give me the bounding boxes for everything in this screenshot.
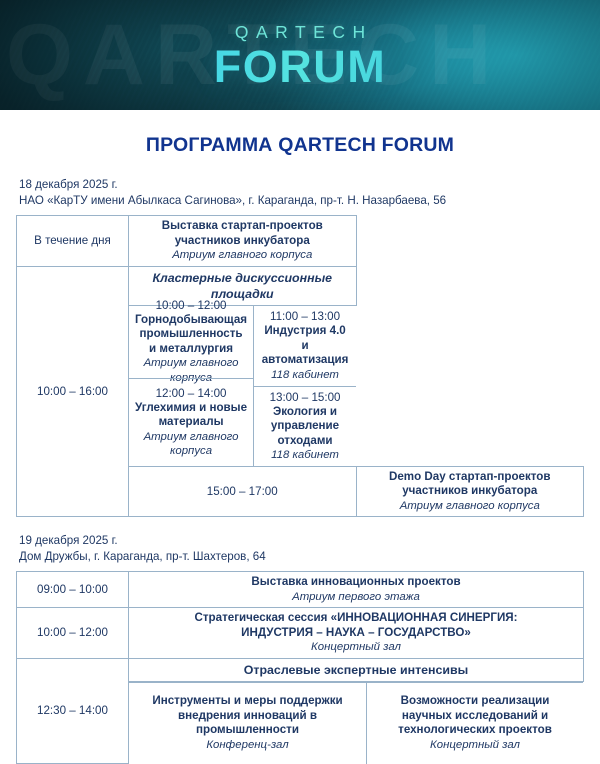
row-title-line-2: ИНДУСТРИЯ – НАУКА – ГОСУДАРСТВО» bbox=[134, 626, 578, 641]
program-sheet: ПРОГРАММА QARTECH FORUM 18 декабря 2025 … bbox=[0, 134, 600, 764]
intensive-title-line-3: технологических проектов bbox=[373, 723, 577, 738]
header-banner: QARTECH QARTECH FORUM bbox=[0, 0, 600, 110]
day-1-date: 18 декабря 2025 г. bbox=[16, 177, 584, 193]
cluster-grid-cell: 10:00 – 12:00 Горнодобывающая промышленн… bbox=[129, 305, 357, 466]
row-content: Стратегическая сессия «ИННОВАЦИОННАЯ СИН… bbox=[129, 608, 584, 659]
cluster-time: 10:00 – 12:00 bbox=[135, 298, 247, 313]
cluster-title-line-2: отходами bbox=[260, 434, 350, 449]
intensive-column-left[interactable]: Инструменты и меры поддержки внедрения и… bbox=[129, 682, 367, 764]
intensive-title-line-2: внедрения инноваций в bbox=[135, 709, 360, 724]
row-time: 15:00 – 17:00 bbox=[129, 466, 357, 517]
logo-wordmark-forum: FORUM bbox=[0, 43, 600, 90]
row-place: Концертный зал bbox=[134, 640, 578, 655]
day-2-venue: Дом Дружбы, г. Караганда, пр-т. Шахтеров… bbox=[16, 549, 584, 565]
cluster-title-line-2: промышленность и металлургия bbox=[135, 327, 247, 356]
cluster-place: 118 кабинет bbox=[260, 368, 350, 383]
cluster-title-line-1: Индустрия 4.0 и bbox=[260, 324, 350, 353]
day-2-date: 19 декабря 2025 г. bbox=[16, 533, 584, 549]
intensive-title-line-1: Возможности реализации bbox=[373, 694, 577, 709]
day-block-2: 19 декабря 2025 г. Дом Дружбы, г. Карага… bbox=[16, 533, 584, 764]
row-place: Атриум главного корпуса bbox=[362, 499, 579, 514]
table-row[interactable]: 09:00 – 10:00 Выставка инновационных про… bbox=[17, 572, 584, 608]
table-row[interactable]: 10:00 – 16:00 Кластерные дискуссионные п… bbox=[17, 266, 584, 305]
row-time: В течение дня bbox=[17, 216, 129, 267]
intensive-title-line-2: научных исследований и bbox=[373, 709, 577, 724]
row-title: Выставка стартап-проектов участников инк… bbox=[134, 219, 351, 248]
cluster-time: 11:00 – 13:00 bbox=[260, 309, 350, 324]
cluster-column-left: 10:00 – 12:00 Горнодобывающая промышленн… bbox=[129, 306, 254, 466]
row-place: Атриум первого этажа bbox=[134, 590, 578, 605]
table-row[interactable]: 10:00 – 12:00 Стратегическая сессия «ИНН… bbox=[17, 608, 584, 659]
cluster-item[interactable]: 13:00 – 15:00 Экология и управление отхо… bbox=[254, 386, 356, 466]
row-content: Выставка стартап-проектов участников инк… bbox=[129, 216, 357, 267]
row-time: 10:00 – 16:00 bbox=[17, 266, 129, 517]
day-block-1: 18 декабря 2025 г. НАО «КарТУ имени Абыл… bbox=[16, 177, 584, 517]
cluster-place: 118 кабинет bbox=[260, 448, 350, 463]
intensive-grid-cell: Инструменты и меры поддержки внедрения и… bbox=[129, 681, 584, 764]
intensive-title-line-3: промышленности bbox=[135, 723, 360, 738]
cluster-title-line-1: Экология и управление bbox=[260, 405, 350, 434]
day-1-venue: НАО «КарТУ имени Абылкаса Сагинова», г. … bbox=[16, 193, 584, 209]
cluster-time: 13:00 – 15:00 bbox=[260, 390, 350, 405]
cluster-item[interactable]: 12:00 – 14:00 Углехимия и новые материал… bbox=[129, 378, 253, 466]
cluster-title-line-1: Углехимия и новые материалы bbox=[135, 401, 247, 430]
row-time: 10:00 – 12:00 bbox=[17, 608, 129, 659]
row-content: Demo Day стартап-проектов участников инк… bbox=[356, 466, 584, 517]
row-content: Выставка инновационных проектов Атриум п… bbox=[129, 572, 584, 608]
row-place: Атриум главного корпуса bbox=[134, 248, 351, 263]
row-time: 12:30 – 14:00 bbox=[17, 658, 129, 764]
table-row[interactable]: В течение дня Выставка стартап-проектов … bbox=[17, 216, 584, 267]
row-title: Выставка инновационных проектов bbox=[134, 575, 578, 590]
intensive-item[interactable]: Инструменты и меры поддержки внедрения и… bbox=[129, 682, 366, 764]
intensive-item[interactable]: Возможности реализации научных исследова… bbox=[367, 682, 583, 764]
cluster-column-right: 11:00 – 13:00 Индустрия 4.0 и автоматиза… bbox=[254, 306, 356, 466]
intensive-section-header: Отраслевые экспертные интенсивы bbox=[129, 658, 584, 681]
logo-wordmark-qartech: QARTECH bbox=[0, 22, 600, 42]
page-title: ПРОГРАММА QARTECH FORUM bbox=[16, 134, 584, 157]
table-row[interactable]: 12:30 – 14:00 Отраслевые экспертные инте… bbox=[17, 658, 584, 681]
schedule-table-day-1: В течение дня Выставка стартап-проектов … bbox=[16, 215, 584, 517]
row-title: Demo Day стартап-проектов участников инк… bbox=[362, 470, 579, 499]
row-title-line-1: Стратегическая сессия «ИННОВАЦИОННАЯ СИН… bbox=[134, 611, 578, 626]
intensive-column-right[interactable]: Возможности реализации научных исследова… bbox=[367, 682, 583, 764]
intensive-title-line-1: Инструменты и меры поддержки bbox=[135, 694, 360, 709]
row-time: 09:00 – 10:00 bbox=[17, 572, 129, 608]
cluster-grid: 10:00 – 12:00 Горнодобывающая промышленн… bbox=[129, 306, 356, 466]
qartech-forum-logo: QARTECH FORUM bbox=[0, 22, 600, 90]
cluster-place: Атриум главного корпуса bbox=[135, 430, 247, 459]
schedule-table-day-2: 09:00 – 10:00 Выставка инновационных про… bbox=[16, 571, 584, 764]
cluster-item[interactable]: 10:00 – 12:00 Горнодобывающая промышленн… bbox=[129, 306, 253, 378]
cluster-time: 12:00 – 14:00 bbox=[135, 386, 247, 401]
cluster-title-line-2: автоматизация bbox=[260, 353, 350, 368]
intensive-grid: Инструменты и меры поддержки внедрения и… bbox=[129, 682, 584, 764]
cluster-item[interactable]: 11:00 – 13:00 Индустрия 4.0 и автоматиза… bbox=[254, 306, 356, 386]
cluster-title-line-1: Горнодобывающая bbox=[135, 313, 247, 328]
